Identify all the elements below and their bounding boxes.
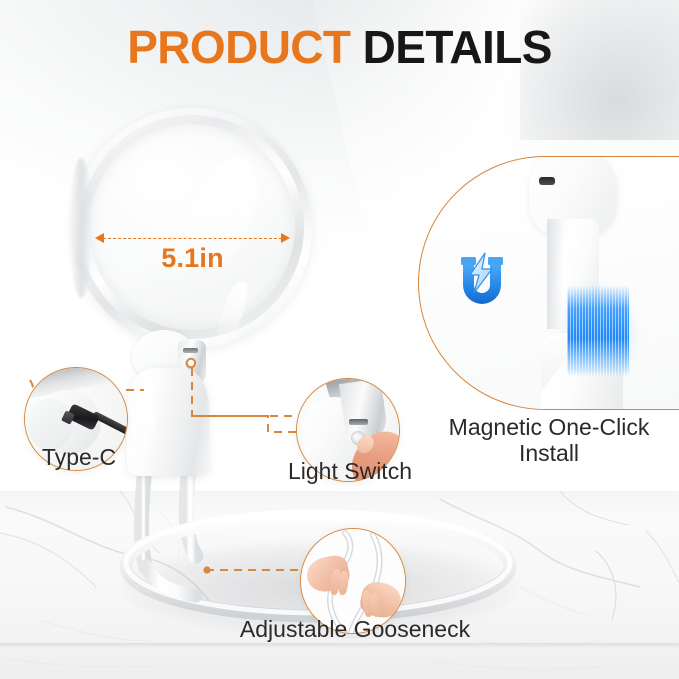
- horseshoe-magnet-icon: [455, 251, 509, 307]
- type-c-housing-side: [27, 398, 73, 450]
- callout-label-type-c: Type-C: [4, 444, 154, 471]
- light-switch-slot: [183, 348, 198, 353]
- dimension-arrow-right-head: [281, 233, 290, 243]
- magnetic-module-port: [539, 177, 555, 185]
- panel-magnetic-caption: Magnetic One-Click Install: [418, 414, 679, 467]
- infographic-canvas: PRODUCT DETAILS: [0, 0, 679, 679]
- magnifier-lens: [72, 108, 312, 348]
- dimension-arrow-line: [103, 238, 282, 239]
- dimension-label: 5.1in: [95, 243, 290, 274]
- light-switch-button[interactable]: [185, 358, 196, 369]
- light-switch-slot-zoomed: [349, 419, 368, 425]
- magnetic-panel-content: [419, 157, 679, 409]
- magnetic-attraction-glow: [567, 285, 629, 377]
- lens-edge-sheen: [70, 158, 92, 298]
- panel-caption-line-1: Magnetic One-Click: [418, 414, 679, 440]
- panel-magnetic-install[interactable]: [418, 156, 679, 410]
- callout-label-adjustable-gooseneck: Adjustable Gooseneck: [190, 616, 520, 643]
- panel-caption-line-2: Install: [418, 440, 679, 466]
